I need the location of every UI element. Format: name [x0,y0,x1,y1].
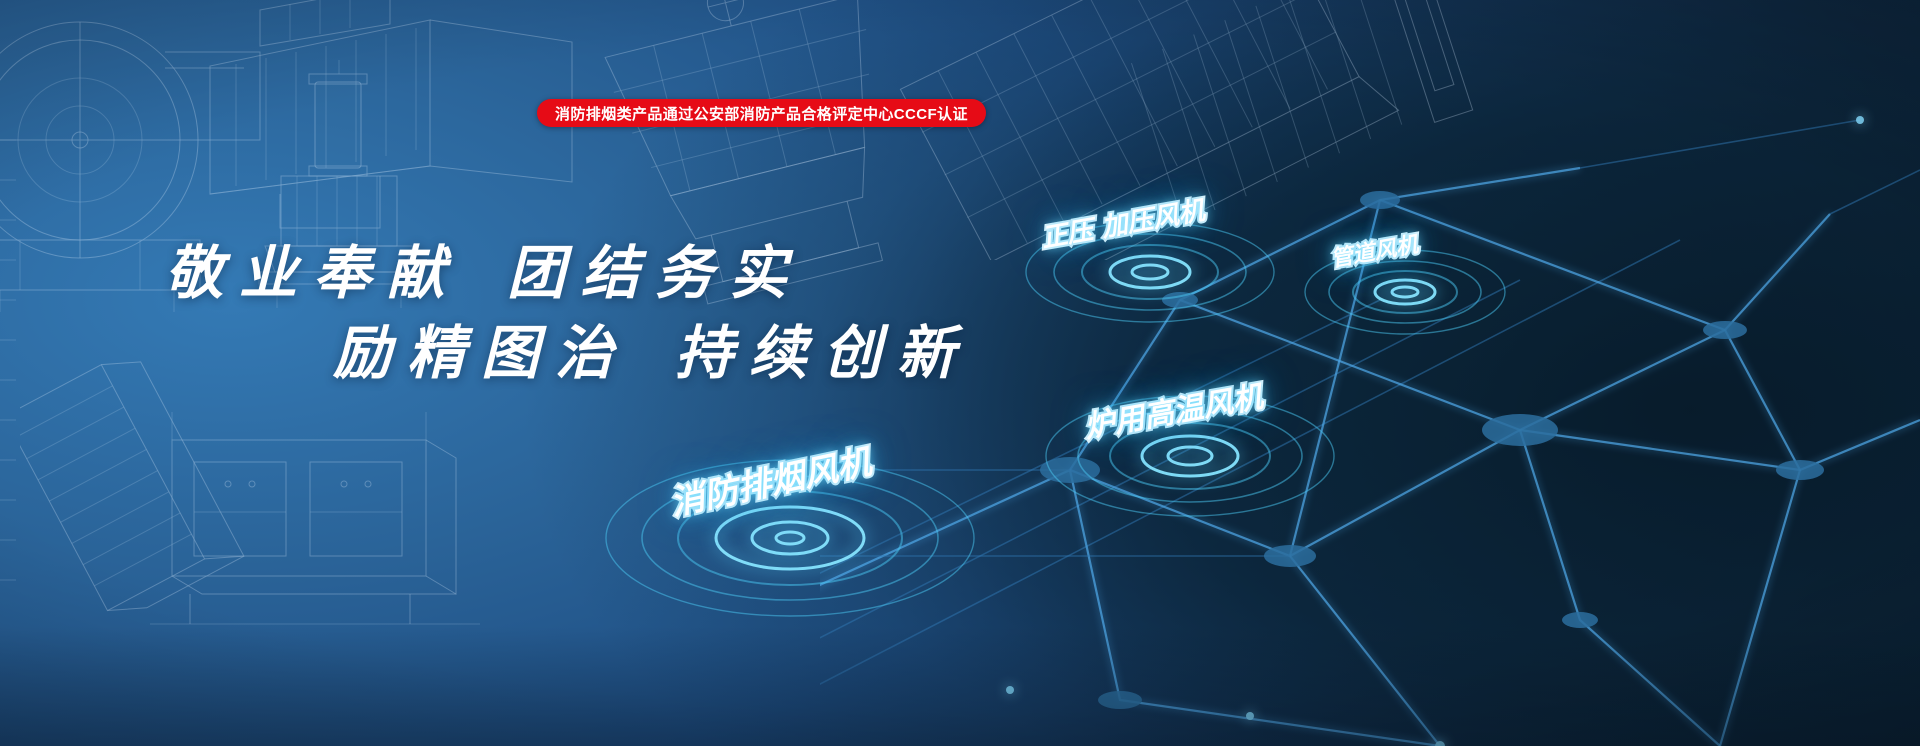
slogan-line-2: 励精图治持续创新 [333,306,971,390]
hero-banner: 消防排烟类产品通过公安部消防产品合格评定中心CCCF认证 敬业奉献团结务实 励精… [0,0,1920,746]
blueprint-ahu-cabinet-icon [150,400,480,650]
certification-badge: 消防排烟类产品通过公安部消防产品合格评定中心CCCF认证 [537,99,986,127]
slogan-line-1: 敬业奉献团结务实 [165,226,803,310]
slogan-line-2-part-b: 持续创新 [675,319,971,387]
blueprint-edge-ticks-icon [0,120,70,600]
slogan-line-2-part-a: 励精图治 [333,319,629,387]
slogan-line-1-part-b: 团结务实 [507,239,803,307]
slogan-line-1-part-a: 敬业奉献 [165,239,461,307]
